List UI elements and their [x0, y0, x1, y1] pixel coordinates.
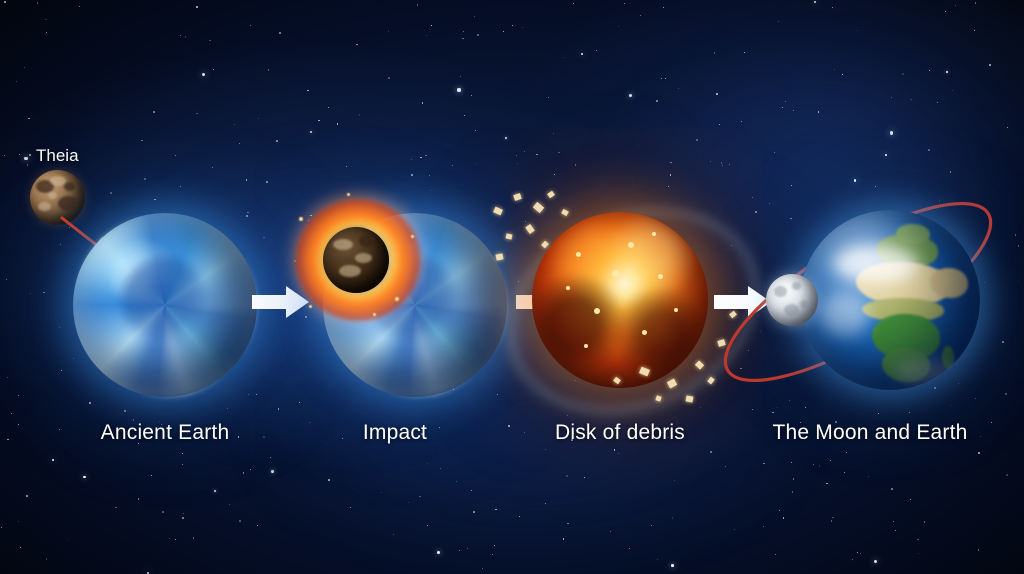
star — [696, 139, 698, 141]
star — [734, 529, 735, 530]
star — [902, 73, 904, 75]
star — [545, 449, 547, 451]
star — [460, 76, 462, 78]
star — [980, 436, 981, 437]
star — [196, 6, 198, 8]
star — [834, 69, 835, 70]
star — [716, 93, 718, 95]
star — [408, 502, 409, 503]
star — [910, 99, 912, 101]
star — [813, 464, 814, 465]
star — [214, 490, 216, 492]
star — [991, 422, 992, 423]
star — [147, 572, 149, 574]
star — [11, 413, 12, 414]
star — [4, 1, 6, 3]
star — [1, 527, 3, 529]
star — [492, 554, 493, 555]
star — [310, 131, 312, 133]
star — [440, 468, 441, 469]
star — [975, 2, 977, 4]
star — [508, 425, 510, 427]
earth-terminator — [800, 210, 980, 390]
star — [258, 118, 259, 119]
star — [213, 69, 214, 70]
star — [475, 130, 476, 131]
star — [663, 7, 664, 8]
ancient-earth-sphere — [73, 213, 257, 397]
star — [350, 507, 351, 508]
star — [430, 190, 432, 192]
star — [777, 407, 779, 409]
star — [272, 472, 273, 473]
star — [356, 44, 358, 46]
star — [774, 152, 775, 153]
star — [819, 465, 821, 467]
star — [783, 517, 784, 518]
star — [670, 162, 672, 164]
star — [814, 1, 817, 4]
star — [793, 110, 794, 111]
star — [279, 32, 281, 34]
star — [124, 410, 126, 412]
star — [427, 463, 428, 464]
star — [24, 67, 25, 68]
star — [16, 81, 17, 82]
star — [209, 40, 210, 41]
star — [878, 413, 879, 414]
star — [346, 166, 347, 167]
star — [68, 539, 69, 540]
star — [6, 279, 7, 280]
star — [974, 30, 975, 31]
star — [144, 178, 145, 179]
star — [227, 408, 228, 409]
star — [714, 52, 716, 54]
moon-formation-diagram: Theia — [0, 0, 1024, 574]
star — [670, 174, 672, 176]
star — [185, 36, 187, 38]
star — [729, 164, 730, 165]
star — [162, 511, 164, 513]
star — [928, 149, 930, 151]
star — [581, 53, 583, 55]
star — [917, 539, 918, 540]
star — [950, 171, 952, 173]
star — [857, 30, 858, 31]
star — [791, 462, 792, 463]
star — [614, 449, 615, 450]
star — [243, 472, 244, 473]
star — [89, 402, 91, 404]
impactor-theia — [323, 227, 389, 293]
star — [779, 510, 780, 511]
label-the-moon-and-earth: The Moon and Earth — [765, 421, 975, 445]
star — [567, 415, 568, 416]
star — [467, 548, 468, 549]
star — [495, 509, 497, 511]
star — [852, 559, 853, 560]
star — [61, 370, 62, 371]
star — [417, 4, 418, 5]
star — [844, 472, 845, 473]
star — [59, 429, 60, 430]
debris-chunk — [513, 193, 522, 201]
star — [28, 118, 29, 119]
star — [482, 568, 484, 570]
moon — [766, 274, 818, 326]
star — [575, 164, 577, 166]
star — [271, 470, 274, 473]
modern-earth — [800, 210, 980, 390]
star — [661, 78, 662, 79]
star — [457, 88, 461, 92]
star — [672, 517, 674, 519]
star — [239, 520, 241, 522]
star — [182, 453, 183, 454]
molten-mottling — [532, 212, 708, 388]
star — [18, 395, 19, 396]
star — [842, 74, 843, 75]
star — [868, 476, 869, 477]
star — [618, 453, 619, 454]
star — [138, 498, 140, 500]
star — [153, 111, 155, 113]
star — [246, 179, 248, 181]
star — [584, 477, 585, 478]
star — [978, 549, 979, 550]
star — [388, 77, 390, 79]
star — [45, 19, 46, 20]
star — [175, 155, 176, 156]
star — [318, 120, 320, 122]
star — [629, 548, 631, 550]
star — [719, 124, 720, 125]
star — [910, 499, 911, 500]
star — [59, 327, 60, 328]
star — [83, 476, 85, 478]
star — [657, 559, 658, 560]
star — [929, 70, 930, 71]
star — [180, 186, 182, 188]
star — [741, 121, 742, 122]
star — [151, 475, 152, 476]
star — [471, 95, 472, 96]
star — [182, 464, 183, 465]
debris-chunk — [493, 207, 503, 216]
star — [18, 521, 19, 522]
star — [505, 137, 507, 139]
star — [494, 545, 495, 546]
star — [566, 475, 568, 477]
star — [778, 21, 779, 22]
star — [918, 553, 919, 554]
star — [307, 90, 308, 91]
star — [234, 124, 235, 125]
star — [250, 469, 251, 470]
star — [978, 452, 980, 454]
stage-ancient-earth[interactable] — [73, 213, 257, 397]
debris-chunk — [525, 224, 535, 234]
star — [46, 558, 48, 560]
theia-label: Theia — [36, 146, 79, 166]
star — [212, 167, 213, 168]
star — [793, 478, 795, 480]
star — [610, 531, 611, 532]
star — [328, 479, 330, 481]
star — [183, 513, 184, 514]
star — [945, 11, 946, 12]
molten-proto-earth — [532, 212, 708, 388]
star — [524, 151, 525, 152]
star — [278, 408, 280, 410]
star — [229, 504, 230, 505]
star — [536, 154, 537, 155]
star — [37, 2, 39, 4]
debris-chunk — [561, 209, 569, 216]
debris-chunk — [547, 191, 555, 199]
star — [710, 161, 711, 162]
label-impact: Impact — [295, 421, 495, 445]
star — [563, 538, 564, 539]
debris-chunk — [533, 202, 544, 213]
star — [832, 517, 834, 519]
star — [257, 525, 259, 527]
star — [573, 3, 574, 4]
star — [772, 412, 774, 414]
star — [43, 292, 45, 294]
star — [671, 564, 674, 567]
star — [474, 16, 475, 17]
star — [668, 186, 669, 187]
star — [328, 107, 329, 108]
star — [437, 551, 440, 554]
star — [548, 97, 549, 98]
star — [831, 520, 833, 522]
star — [885, 154, 887, 156]
star — [79, 6, 80, 7]
star — [4, 155, 5, 156]
star — [202, 73, 205, 76]
star — [196, 113, 198, 115]
star — [239, 143, 240, 144]
star — [516, 155, 517, 156]
star — [503, 31, 504, 32]
star — [895, 530, 896, 531]
star — [475, 164, 476, 165]
star — [169, 538, 170, 539]
star — [459, 550, 460, 551]
star — [563, 57, 564, 58]
star — [678, 88, 679, 89]
star — [419, 496, 421, 498]
star — [115, 507, 117, 509]
star — [388, 31, 389, 32]
star — [651, 525, 652, 526]
star — [763, 526, 765, 528]
star — [19, 154, 20, 155]
star — [624, 3, 625, 4]
star — [674, 480, 675, 481]
star — [26, 495, 28, 497]
star — [337, 123, 339, 125]
star — [464, 115, 465, 116]
star — [909, 412, 910, 413]
star — [763, 463, 764, 464]
star — [462, 38, 463, 39]
star — [937, 102, 938, 103]
star — [471, 490, 473, 492]
star — [893, 521, 894, 522]
star — [452, 165, 453, 166]
star — [429, 175, 430, 176]
star — [830, 460, 832, 462]
star — [18, 424, 19, 425]
star — [874, 560, 877, 563]
star — [268, 69, 270, 71]
star — [857, 552, 858, 553]
star — [946, 71, 948, 73]
star — [775, 554, 776, 555]
star — [710, 451, 712, 453]
star — [522, 27, 524, 29]
star — [891, 488, 893, 490]
star — [7, 377, 9, 379]
star — [29, 154, 31, 156]
star — [890, 131, 893, 134]
star — [665, 78, 666, 79]
star — [785, 101, 786, 102]
star — [20, 547, 21, 548]
star — [558, 152, 560, 154]
star — [955, 5, 956, 6]
star — [52, 459, 54, 461]
star — [512, 25, 513, 26]
star — [567, 523, 569, 525]
star — [725, 466, 726, 467]
star — [832, 7, 833, 8]
star — [193, 537, 195, 539]
star — [7, 439, 9, 441]
star — [175, 539, 176, 540]
star — [818, 111, 820, 113]
star — [359, 114, 361, 116]
star — [1007, 127, 1008, 128]
star — [431, 25, 432, 26]
star — [744, 52, 745, 53]
star — [656, 100, 658, 102]
star — [456, 481, 457, 482]
star — [553, 133, 554, 134]
star — [860, 553, 861, 554]
star — [276, 140, 278, 142]
label-ancient-earth: Ancient Earth — [65, 421, 265, 445]
star — [154, 199, 156, 201]
star — [805, 407, 806, 408]
debris-chunk — [495, 253, 503, 260]
star — [846, 452, 847, 453]
star — [299, 402, 300, 403]
star — [27, 164, 28, 165]
star — [721, 162, 723, 164]
star — [989, 64, 991, 66]
label-disk-of-debris: Disk of debris — [520, 421, 720, 445]
star — [381, 492, 382, 493]
star — [393, 534, 394, 535]
star — [545, 503, 546, 504]
star — [422, 102, 424, 104]
star — [517, 163, 518, 164]
star — [596, 50, 597, 51]
star — [427, 525, 428, 526]
star — [24, 157, 27, 160]
star — [411, 174, 413, 176]
stage-the-moon-and-earth[interactable] — [690, 180, 1020, 405]
star — [629, 94, 633, 98]
star — [141, 140, 143, 142]
star — [826, 483, 828, 485]
star — [891, 97, 892, 98]
star — [477, 34, 479, 36]
star — [473, 511, 475, 513]
star — [250, 25, 251, 26]
star — [463, 31, 464, 32]
star — [411, 159, 412, 160]
star — [519, 516, 520, 517]
star — [420, 157, 422, 159]
ancient-earth-limb — [73, 213, 257, 397]
star — [425, 155, 427, 157]
star — [554, 174, 555, 175]
star — [182, 517, 184, 519]
star — [263, 237, 265, 239]
star — [782, 107, 783, 108]
star — [1006, 474, 1008, 476]
star — [722, 165, 724, 167]
star — [952, 90, 953, 91]
star — [266, 181, 268, 183]
star — [426, 35, 428, 37]
star — [924, 521, 925, 522]
star — [46, 32, 47, 33]
star — [640, 15, 642, 17]
star — [792, 491, 793, 492]
star — [180, 35, 181, 36]
debris-chunk — [506, 233, 513, 239]
star — [30, 293, 31, 294]
star — [270, 457, 272, 459]
star — [618, 26, 619, 27]
star — [110, 192, 112, 194]
